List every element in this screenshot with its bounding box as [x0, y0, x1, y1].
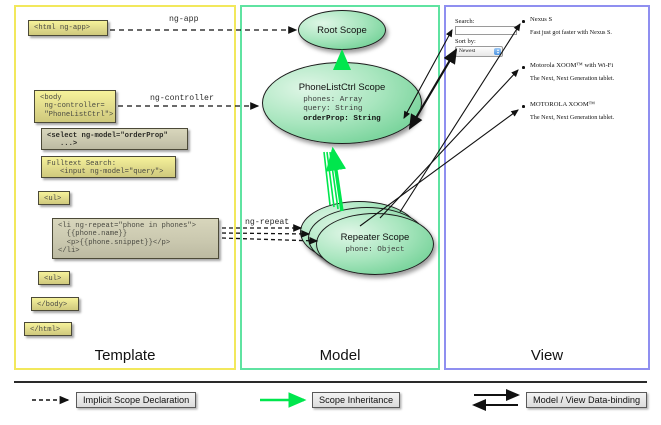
- list-item: Nexus S Fast just got faster with Nexus …: [530, 16, 642, 37]
- list-item: Motorola XOOM™ with Wi-Fi The Next, Next…: [530, 62, 642, 83]
- prop-phone: phone: Object: [345, 246, 404, 255]
- legend-item-implicit-scope-declaration: Implicit Scope Declaration: [76, 392, 196, 408]
- scope-phonelistctrl-title: PhoneListCtrl Scope: [299, 82, 386, 93]
- code-box-li-ng-repeat: <li ng-repeat="phone in phones"> {{phone…: [52, 218, 219, 259]
- phone-snippet: The Next, Next Generation tablet.: [530, 75, 642, 83]
- code-box-ul-close: <ul>: [38, 271, 70, 285]
- panel-view-label: View: [446, 347, 648, 364]
- code-box-ul-open: <ul>: [38, 191, 70, 205]
- scope-phonelistctrl: PhoneListCtrl Scope phones: Array query:…: [262, 62, 422, 144]
- connector-label-ng-app: ng-app: [167, 15, 200, 24]
- code-box-select-tag: <select ng-model="orderProp" ...>: [41, 128, 188, 150]
- chevron-updown-icon: [494, 48, 501, 55]
- sort-select-value: Newest: [459, 48, 475, 54]
- search-input[interactable]: [455, 26, 517, 35]
- phone-name: Nexus S: [530, 16, 642, 24]
- sort-label: Sort by:: [455, 38, 476, 45]
- panel-template-label: Template: [16, 347, 234, 364]
- panel-view: View: [444, 5, 650, 370]
- list-bullet-icon: [522, 105, 525, 108]
- list-item: MOTOROLA XOOM™ The Next, Next Generation…: [530, 101, 642, 122]
- list-bullet-icon: [522, 66, 525, 69]
- connector-label-ng-repeat: ng-repeat: [243, 218, 291, 227]
- list-bullet-icon: [522, 20, 525, 23]
- prop-orderprop: orderProp: String: [303, 115, 380, 124]
- phone-snippet: Fast just got faster with Nexus S.: [530, 29, 642, 37]
- code-box-body-close: </body>: [31, 297, 79, 311]
- code-box-body-tag: <body ng-controller= "PhoneListCtrl">: [34, 90, 116, 123]
- code-box-fulltext-search: Fulltext Search: <input ng-model="query"…: [41, 156, 176, 178]
- scope-repeater-props: phone: Object: [345, 246, 404, 255]
- legend-item-scope-inheritance: Scope Inheritance: [312, 392, 400, 408]
- scope-phonelistctrl-props: phones: Array query: String orderProp: S…: [303, 96, 380, 124]
- panel-template: Template: [14, 5, 236, 370]
- legend: Implicit Scope Declaration Scope Inherit…: [14, 381, 647, 419]
- panel-model: Model: [240, 5, 440, 370]
- diagram-stage: Template Model View <html ng-app> <body …: [0, 0, 661, 425]
- legend-item-model-view-data-binding: Model / View Data-binding: [526, 392, 647, 408]
- sort-select[interactable]: Newest: [455, 46, 503, 57]
- code-box-html-close: </html>: [24, 322, 72, 336]
- code-box-html-tag: <html ng-app>: [28, 20, 108, 36]
- scope-root: Root Scope: [298, 10, 386, 50]
- prop-query: query: String: [303, 105, 380, 114]
- scope-repeater-title: Repeater Scope: [341, 232, 410, 243]
- scope-repeater: Repeater Scope phone: Object: [316, 213, 434, 275]
- prop-phones: phones: Array: [303, 96, 380, 105]
- search-label: Search:: [455, 18, 475, 25]
- connector-label-ng-controller: ng-controller: [148, 94, 216, 103]
- phone-name: Motorola XOOM™ with Wi-Fi: [530, 62, 642, 70]
- scope-root-title: Root Scope: [317, 25, 367, 36]
- panel-model-label: Model: [242, 347, 438, 364]
- phone-snippet: The Next, Next Generation tablet.: [530, 114, 642, 122]
- phone-name: MOTOROLA XOOM™: [530, 101, 642, 109]
